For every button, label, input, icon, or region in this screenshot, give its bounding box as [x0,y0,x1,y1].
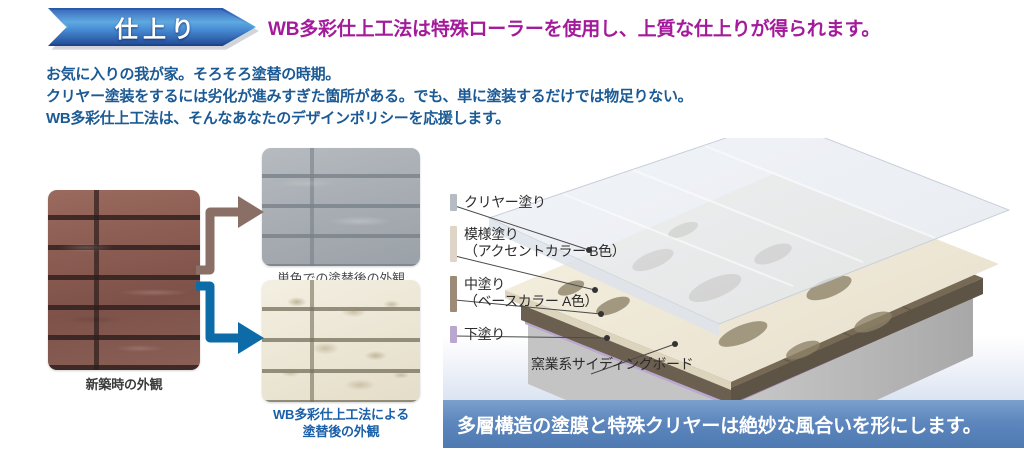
leader-endpoint-dots [586,247,678,347]
legend-label-pattern-coat-line1: 模様塗り [464,226,625,243]
footer-banner: 多層構造の塗膜と特殊クリヤーは絶妙な風合いを形にします。 [443,400,1024,448]
footer-banner-text: 多層構造の塗膜と特殊クリヤーは絶妙な風合いを形にします。 [443,411,982,438]
intro-paragraph: お気に入りの我が家。そろそろ塗替の時期。 クリヤー塗装をするには劣化が進みすぎた… [46,64,692,130]
brick-texture-overlay [48,190,200,370]
swatch-primer-icon [450,326,457,343]
legend-label-clear-coat: クリヤー塗り [464,194,546,211]
substrate-callout-label: 窯業系サイディングボード [531,354,693,374]
brick-wall-sample [48,190,200,370]
intro-line-3: WB多彩仕上工法は、そんなあなたのデザインポリシーを応援します。 [46,108,692,130]
swatch-pattern-coat-icon [450,226,457,262]
legend-item-primer: 下塗り [450,326,505,343]
legend-item-base-coat: 中塗り （ベースカラー A色） [450,276,598,312]
legend-label-primer-line1: 下塗り [464,326,505,343]
legend-label-pattern-coat: 模様塗り （アクセントカラー B色） [464,226,625,260]
arrow-to-monochrome [196,212,240,270]
intro-line-2: クリヤー塗装をするには劣化が進みすぎた箇所がある。でも、単に塗装するだけでは物足… [46,86,692,108]
layer-diagram-panel: クリヤー塗り 模様塗り （アクセントカラー B色） 中塗り （ベースカラー A色… [443,138,1024,448]
intro-line-1: お気に入りの我が家。そろそろ塗替の時期。 [46,64,692,86]
arrow-to-monochrome-head [238,196,264,228]
multicolor-repaint-sample [262,280,420,402]
caption-multicolor: WB多彩仕上工法による 塗替後の外観 [244,406,438,440]
arrow-to-multicolor [196,286,240,338]
page-root: 仕上り WB多彩仕上工法は特殊ローラーを使用し、上質な仕上りが得られます。 お気… [0,0,1024,464]
legend-label-base-coat-line2: （ベースカラー A色） [464,293,598,310]
badge-label: 仕上り [48,8,256,46]
flow-arrows [196,190,276,355]
legend-label-base-coat: 中塗り （ベースカラー A色） [464,276,598,310]
legend-item-clear-coat: クリヤー塗り [450,194,546,211]
page-headline: WB多彩仕上工法は特殊ローラーを使用し、上質な仕上りが得られます。 [268,14,880,41]
legend-label-primer: 下塗り [464,326,505,343]
swatch-clear-coat-icon [450,194,457,211]
caption-before: 新築時の外観 [48,374,200,393]
arrow-to-multicolor-head [238,322,264,354]
legend-label-clear-coat-line1: クリヤー塗り [464,194,546,211]
section-badge: 仕上り [48,8,260,50]
multicolor-texture-overlay [262,280,420,402]
legend-item-pattern-coat: 模様塗り （アクセントカラー B色） [450,226,625,262]
caption-multicolor-line-2: 塗替後の外観 [244,423,438,440]
caption-multicolor-line-1: WB多彩仕上工法による [244,406,438,423]
legend-label-base-coat-line1: 中塗り [464,276,598,293]
swatch-base-coat-icon [450,276,457,312]
legend-label-pattern-coat-line2: （アクセントカラー B色） [464,243,625,260]
monochrome-repaint-sample [262,148,420,266]
monochrome-texture-overlay [262,148,420,266]
